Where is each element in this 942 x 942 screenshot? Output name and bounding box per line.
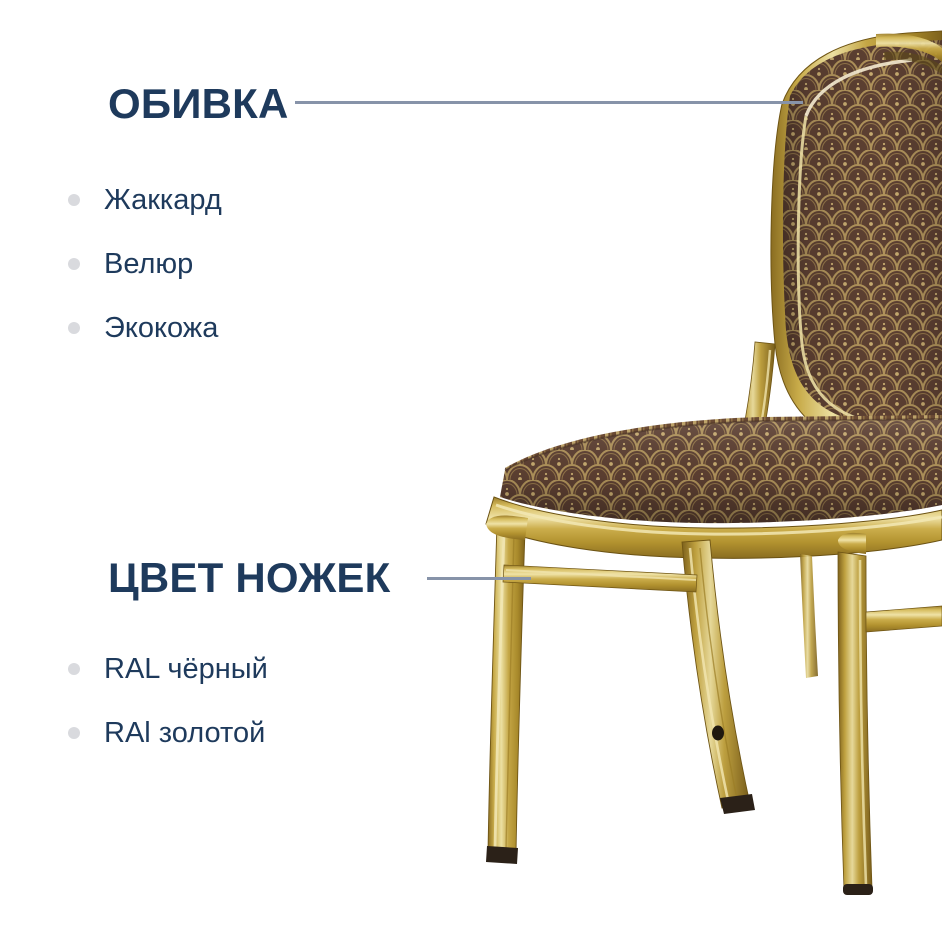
- option-label: Экокожа: [104, 311, 218, 345]
- chair-seat-cushion: [495, 410, 942, 523]
- bullet-icon: [68, 258, 80, 270]
- list-item[interactable]: RAl золотой: [68, 701, 268, 765]
- chair-backrest: [770, 30, 942, 458]
- chair-back-post: [737, 342, 775, 462]
- option-label: RAL чёрный: [104, 652, 268, 686]
- list-item[interactable]: RAL чёрный: [68, 637, 268, 701]
- list-item[interactable]: Экокожа: [68, 296, 222, 360]
- option-label: RAl золотой: [104, 716, 265, 750]
- chair-seat-rail: [486, 497, 942, 558]
- bullet-icon: [68, 322, 80, 334]
- leader-line-leg-color: [427, 577, 531, 580]
- option-label: Жаккард: [104, 183, 222, 217]
- product-options-infographic: ОБИВКА Жаккард Велюр Экокожа ЦВЕТ НОЖЕК …: [0, 0, 942, 942]
- banquet-chair-illustration: [0, 0, 942, 942]
- callout-leg-color-title: ЦВЕТ НОЖЕК: [108, 556, 390, 600]
- upholstery-option-list: Жаккард Велюр Экокожа: [68, 168, 222, 360]
- chair-legs: [486, 516, 942, 895]
- leg-color-option-list: RAL чёрный RAl золотой: [68, 637, 268, 765]
- callout-upholstery: ОБИВКА: [108, 82, 289, 126]
- bullet-icon: [68, 727, 80, 739]
- list-item[interactable]: Велюр: [68, 232, 222, 296]
- callout-leg-color: ЦВЕТ НОЖЕК: [108, 556, 390, 600]
- option-label: Велюр: [104, 247, 193, 281]
- bullet-icon: [68, 194, 80, 206]
- callout-upholstery-title: ОБИВКА: [108, 82, 289, 126]
- bullet-icon: [68, 663, 80, 675]
- list-item[interactable]: Жаккард: [68, 168, 222, 232]
- leader-line-upholstery: [295, 101, 803, 104]
